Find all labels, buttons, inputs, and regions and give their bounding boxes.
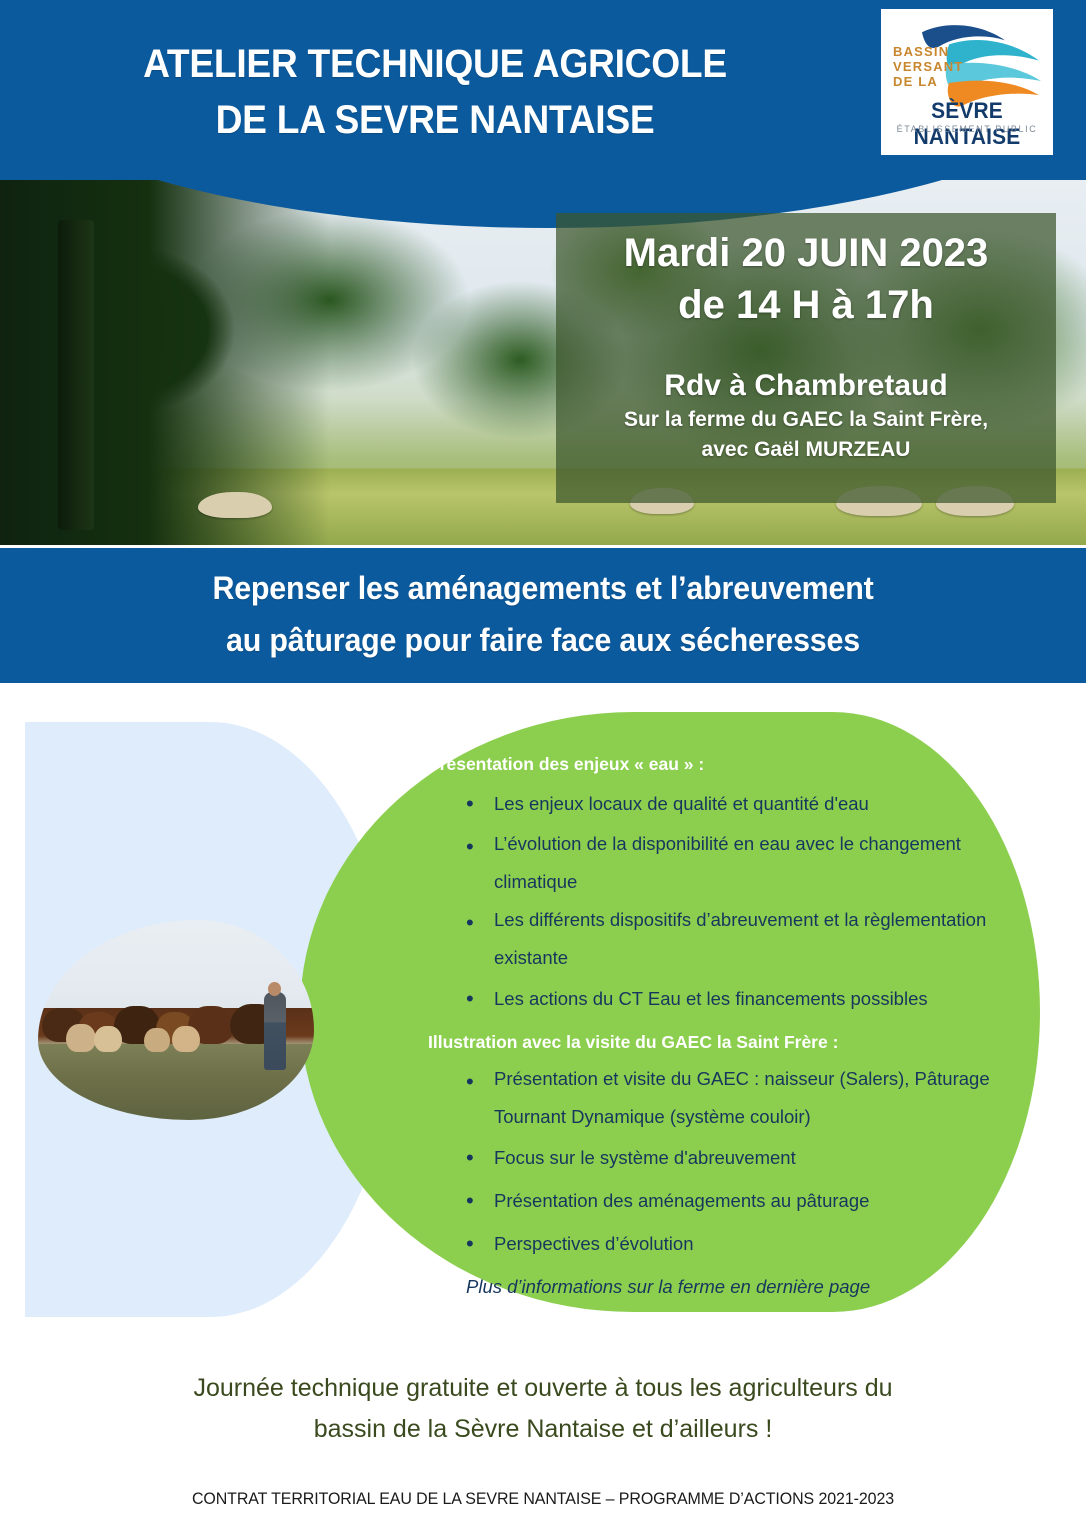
tree-trunk [58, 220, 94, 530]
list-item: Focus sur le système d'abreuvement [428, 1136, 1008, 1179]
farmer-head [268, 982, 281, 996]
subtitle-line-2: au pâturage pour faire face aux sécheres… [27, 614, 1059, 666]
logo-top-words: BASSIN VERSANT DE LA [893, 44, 964, 89]
event-date: Mardi 20 JUIN 2023 [556, 227, 1056, 279]
closing-line-2: bassin de la Sèvre Nantaise et d’ailleur… [100, 1409, 986, 1450]
farmer-body [264, 992, 286, 1070]
page-title-line-2: DE LA SEVRE NANTAISE [68, 92, 803, 148]
list-item: Présentation des aménagements au pâturag… [428, 1179, 1008, 1222]
calf-shape [144, 1028, 170, 1052]
list-item: L’évolution de la disponibilité en eau a… [428, 825, 1008, 901]
section-1-bullets: Les enjeux locaux de qualité et quantité… [428, 782, 1008, 1020]
calf-shape [172, 1026, 200, 1052]
logo: BASSIN VERSANT DE LA SÈVRE NANTAISE ÉTAB… [881, 9, 1053, 155]
subtitle-line-1: Repenser les aménagements et l’abreuveme… [27, 562, 1059, 614]
list-item: Les différents dispositifs d’abreuvement… [428, 901, 1008, 977]
event-place-detail-1: Sur la ferme du GAEC la Saint Frère, [556, 405, 1056, 435]
cow-shape [198, 492, 272, 518]
calf-shape [66, 1024, 96, 1052]
closing-statement: Journée technique gratuite et ouverte à … [100, 1368, 986, 1450]
page-title: ATELIER TECHNIQUE AGRICOLE DE LA SEVRE N… [68, 36, 803, 148]
page-title-line-1: ATELIER TECHNIQUE AGRICOLE [68, 36, 803, 92]
section-2-heading: Illustration avec la visite du GAEC la S… [428, 1030, 1008, 1054]
section-2-note: Plus d’informations sur la ferme en dern… [428, 1267, 1008, 1307]
program-content: Présentation des enjeux « eau » : Les en… [428, 752, 1008, 1307]
banner-photo-shadow-left [0, 180, 330, 545]
calf-shape [94, 1026, 122, 1052]
list-item: Perspectives d’évolution [428, 1222, 1008, 1265]
closing-line-1: Journée technique gratuite et ouverte à … [100, 1368, 986, 1409]
event-place: Rdv à Chambretaud [556, 367, 1056, 405]
list-item: Les enjeux locaux de qualité et quantité… [428, 782, 1008, 825]
list-item: Les actions du CT Eau et les financement… [428, 977, 1008, 1020]
section-1-heading: Présentation des enjeux « eau » : [428, 752, 1008, 776]
section-2-bullets: Présentation et visite du GAEC : naisseu… [428, 1060, 1008, 1265]
footer: CONTRAT TERRITORIAL EAU DE LA SEVRE NANT… [33, 1489, 1054, 1509]
event-info-panel: Mardi 20 JUIN 2023 de 14 H à 17h Rdv à C… [556, 213, 1056, 503]
logo-sub-words: ÉTABLISSEMENT PUBLIC [889, 124, 1045, 134]
list-item: Présentation et visite du GAEC : naisseu… [428, 1060, 1008, 1136]
subtitle-blue-band: Repenser les aménagements et l’abreuveme… [0, 548, 1086, 683]
event-place-detail-2: avec Gaël MURZEAU [556, 435, 1056, 465]
event-time: de 14 H à 17h [556, 279, 1056, 331]
